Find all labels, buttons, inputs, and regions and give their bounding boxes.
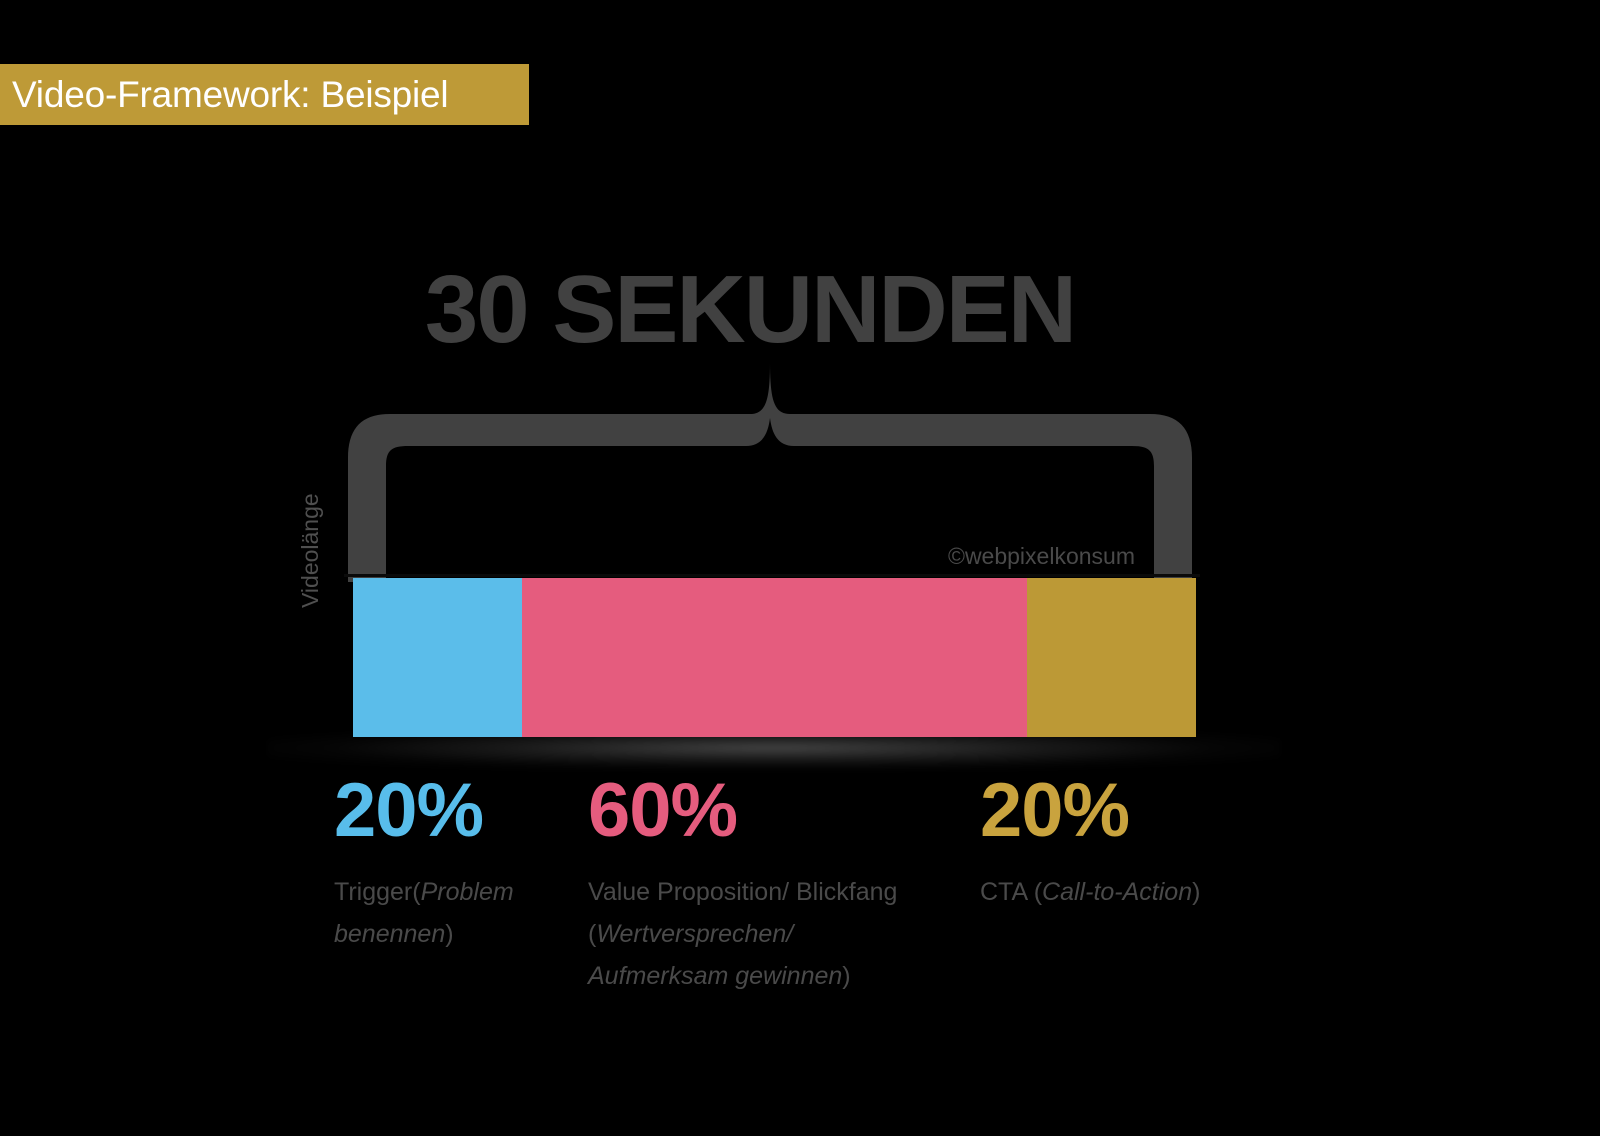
legend: 20% Trigger(Problem benennen) 60% Value … xyxy=(330,775,1230,1015)
page-title: Video-Framework: Beispiel xyxy=(12,76,448,113)
legend-paren-close-1: ) xyxy=(842,962,850,990)
legend-note-2: Call-to-Action xyxy=(1042,878,1192,906)
legend-percent-1: 60% xyxy=(588,775,933,847)
legend-name-2: CTA xyxy=(980,878,1034,906)
legend-item-trigger[interactable]: 20% Trigger(Problem benennen) xyxy=(334,775,574,955)
header-band: Video-Framework: Beispiel xyxy=(0,64,529,125)
legend-item-value-proposition[interactable]: 60% Value Proposition/ Blickfang (Wertve… xyxy=(588,775,933,997)
axis-label-videolaenge: Videolänge xyxy=(296,448,324,608)
chart-headline: 30 SEKUNDEN xyxy=(0,258,1500,362)
legend-note-1: Wertversprechen/ Aufmerksam gewinnen xyxy=(588,920,842,990)
legend-percent-2: 20% xyxy=(980,775,1240,847)
watermark: ©webpixelkonsum xyxy=(948,545,1135,568)
bar-segment-0 xyxy=(353,578,522,737)
bar-top-divider xyxy=(344,574,1200,577)
stacked-bar xyxy=(353,578,1196,737)
legend-name-0: Trigger xyxy=(334,878,412,906)
legend-paren-open-2: ( xyxy=(1034,878,1042,906)
legend-caption-1: Value Proposition/ Blickfang (Wertverspr… xyxy=(588,871,933,997)
legend-caption-2: CTA (Call-to-Action) xyxy=(980,871,1240,913)
bar-segment-1 xyxy=(522,578,1028,737)
legend-paren-open-0: ( xyxy=(412,878,420,906)
legend-paren-close-0: ) xyxy=(445,920,453,948)
bar-segment-2 xyxy=(1027,578,1196,737)
legend-percent-0: 20% xyxy=(334,775,574,847)
legend-caption-0: Trigger(Problem benennen) xyxy=(334,871,574,955)
legend-name-1: Value Proposition/ Blickfang xyxy=(588,878,897,906)
legend-paren-close-2: ) xyxy=(1192,878,1200,906)
legend-item-cta[interactable]: 20% CTA (Call-to-Action) xyxy=(980,775,1240,913)
